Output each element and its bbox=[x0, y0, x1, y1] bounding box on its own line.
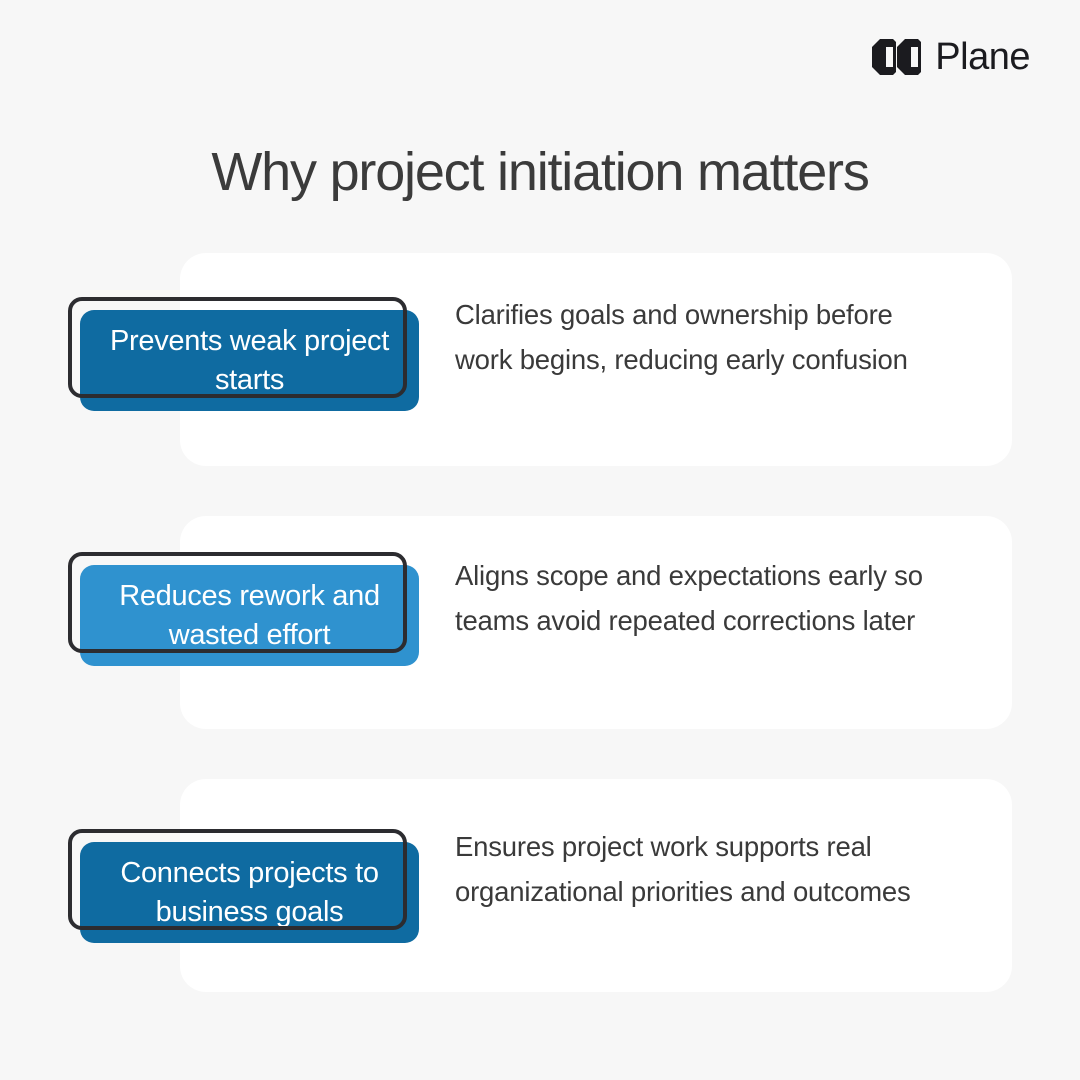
plane-logo-mark bbox=[871, 38, 921, 76]
badge-outline bbox=[68, 829, 407, 930]
benefit-card: Prevents weak project starts Clarifies g… bbox=[0, 253, 1080, 466]
brand-logo: Plane bbox=[871, 38, 1030, 76]
benefit-card-list: Prevents weak project starts Clarifies g… bbox=[0, 253, 1080, 992]
benefit-description: Clarifies goals and ownership before wor… bbox=[455, 293, 925, 382]
badge-outline bbox=[68, 552, 407, 653]
benefit-card: Connects projects to business goals Ensu… bbox=[0, 779, 1080, 992]
benefit-badge: Connects projects to business goals bbox=[68, 829, 407, 930]
brand-name: Plane bbox=[935, 38, 1030, 76]
benefit-badge: Reduces rework and wasted effort bbox=[68, 552, 407, 653]
benefit-description: Ensures project work supports real organ… bbox=[455, 825, 925, 914]
page-title: Why project initiation matters bbox=[0, 142, 1080, 202]
benefit-card: Reduces rework and wasted effort Aligns … bbox=[0, 516, 1080, 729]
benefit-description: Aligns scope and expectations early so t… bbox=[455, 554, 925, 643]
benefit-badge: Prevents weak project starts bbox=[68, 297, 407, 398]
badge-outline bbox=[68, 297, 407, 398]
